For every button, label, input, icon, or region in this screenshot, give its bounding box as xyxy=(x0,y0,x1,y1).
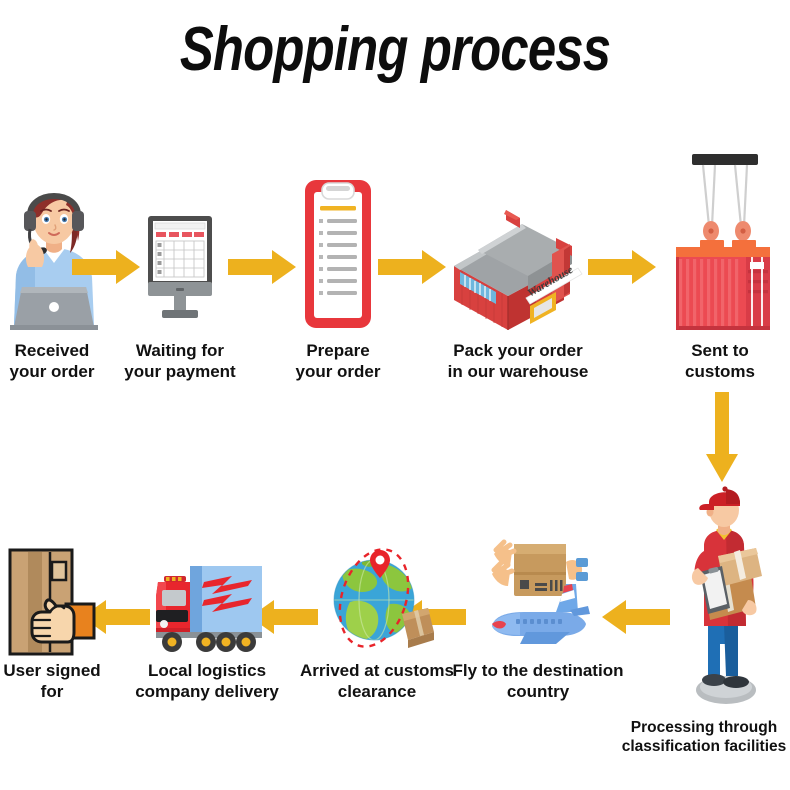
arrow-step3-to-step4 xyxy=(378,248,448,286)
shipping-container-crane-icon xyxy=(662,152,774,332)
step-label-prepare-your-order: Prepare your order xyxy=(278,340,398,382)
step-label-received-your-order: Received your order xyxy=(0,340,112,382)
warehouse-building-icon: Warehouse xyxy=(444,188,586,334)
globe-customs-icon xyxy=(318,536,440,660)
arrow-step6-to-step7 xyxy=(600,598,670,636)
step-waiting-for-your-payment xyxy=(134,216,226,326)
step-label-waiting-for-your-payment: Waiting for your payment xyxy=(110,340,250,382)
shopping-process-infographic: Shopping process xyxy=(0,0,790,790)
airplane-parcel-icon xyxy=(470,536,600,654)
arrow-step2-to-step3 xyxy=(228,248,298,286)
arrow-step5-to-step6 xyxy=(702,392,742,484)
arrow-step1-to-step2 xyxy=(72,248,142,286)
delivery-worker-icon xyxy=(670,484,778,710)
clipboard-checklist-icon xyxy=(303,178,373,330)
step-label-fly-to-the-destination-country: Fly to the destination country xyxy=(448,660,628,702)
step-label-sent-to-customs: Sent to customs xyxy=(660,340,780,382)
step-pack-your-order-in-our-warehouse: Warehouse xyxy=(444,188,586,334)
door-knock-hand-icon xyxy=(6,546,98,658)
step-user-signed-for xyxy=(6,546,98,658)
step-label-arrived-at-customs-clearance: Arrived at customs clearance xyxy=(282,660,472,702)
arrow-step4-to-step5 xyxy=(588,248,658,286)
step-local-logistics-company-delivery xyxy=(148,552,264,656)
delivery-truck-icon xyxy=(148,552,264,656)
step-label-user-signed-for: User signed for xyxy=(0,660,112,702)
step-label-pack-your-order: Pack your order in our warehouse xyxy=(438,340,598,382)
step-label-processing-through-classification: Processing through classification facili… xyxy=(614,718,790,756)
step-fly-to-the-destination-country xyxy=(470,536,600,654)
step-sent-to-customs xyxy=(662,152,774,332)
step-arrived-at-customs-clearance xyxy=(318,536,440,660)
step-processing-through-classification-facilities xyxy=(670,484,778,710)
step-prepare-your-order xyxy=(303,178,373,330)
step-label-local-logistics-company-delivery: Local logistics company delivery xyxy=(122,660,292,702)
monitor-spreadsheet-icon xyxy=(134,216,226,326)
page-title: Shopping process xyxy=(71,14,719,85)
